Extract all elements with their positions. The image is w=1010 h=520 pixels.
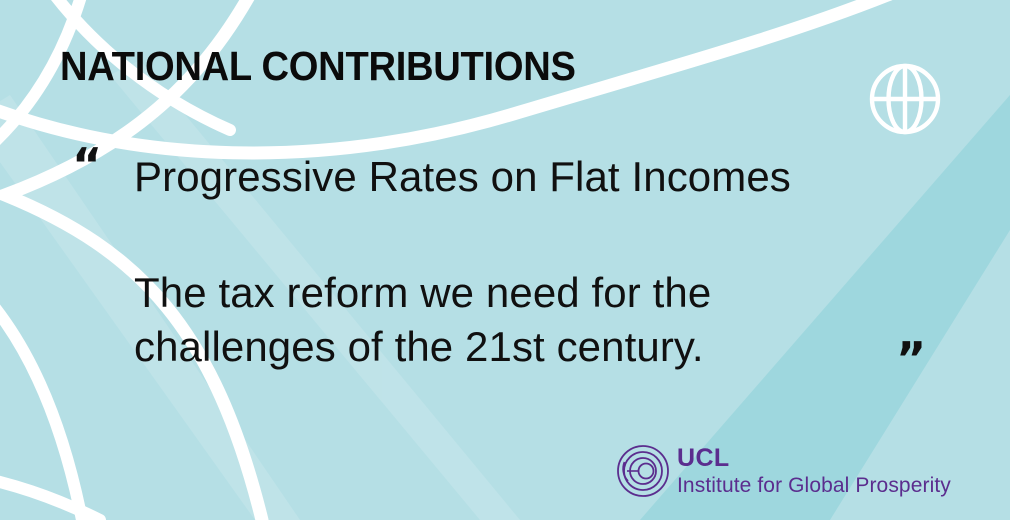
body-copy: The tax reform we need for the challenge… [134, 266, 711, 374]
quote-open-icon: “ [72, 142, 102, 188]
globe-icon [868, 62, 942, 136]
quote-close-icon: ” [896, 336, 926, 382]
body-line: The tax reform we need for the [134, 266, 711, 320]
subtitle: Progressive Rates on Flat Incomes [134, 151, 791, 203]
ucl-logo: UCL Institute for Global Prosperity [616, 444, 951, 498]
ucl-wordmark: UCL Institute for Global Prosperity [677, 445, 951, 498]
ucl-tagline: Institute for Global Prosperity [677, 473, 951, 498]
page-title: NATIONAL CONTRIBUTIONS [60, 42, 576, 90]
promo-card: NATIONAL CONTRIBUTIONS “ Progressive Rat… [0, 0, 1010, 520]
ucl-concentric-circles-icon [616, 444, 670, 498]
ucl-name: UCL [677, 445, 951, 471]
body-line: challenges of the 21st century. [134, 320, 711, 374]
